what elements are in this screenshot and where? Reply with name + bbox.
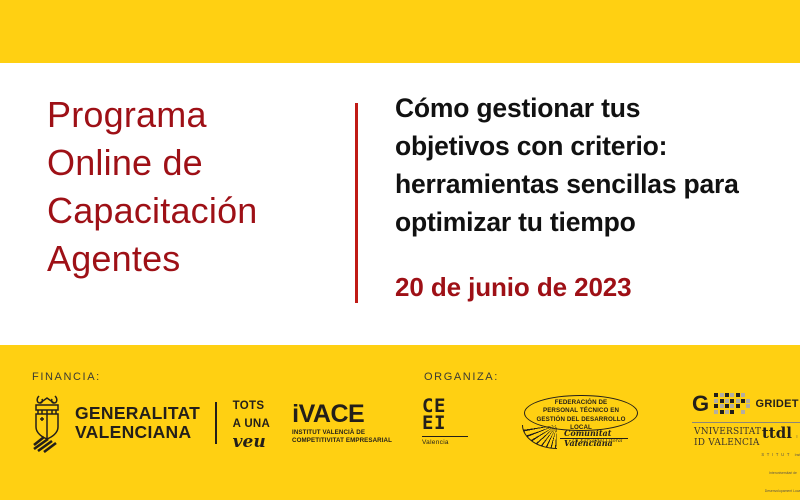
logo-gridet-universitat-valencia: G GRIDET VNIVERSITAT ID VALENCIA ttdl (692, 393, 800, 451)
generalitat-separator (215, 402, 217, 444)
tots-a-una-veu-block: TOTS A UNA veu (233, 396, 271, 451)
footer-yellow-band: FINANCIA: (0, 345, 800, 500)
logo-federacion-desarrollo-local: FEDERACIÓN DE PERSONAL TÉCNICO EN GESTIÓ… (520, 395, 640, 449)
gridet-mark: G GRIDET (692, 393, 799, 415)
ttdl-institute-logo: ttdl I N S T I T U T Institut Interunive… (760, 425, 800, 497)
event-poster: Programa Online de Capacitación Agentes … (0, 0, 800, 500)
gridet-rule (692, 422, 800, 423)
vertical-divider (355, 103, 358, 303)
ivace-subtitle: INSTITUT VALENCIÀ DE COMPETITIVITAT EMPR… (292, 429, 392, 446)
veu-script-text: veu (233, 433, 271, 451)
ttdl-wordmark: ttdl (762, 424, 792, 442)
gridet-g-letter: G (692, 393, 709, 415)
session-date: 20 de junio de 2023 (395, 271, 785, 303)
ceei-wordmark: CE EI (422, 398, 446, 432)
financia-logo-row: GENERALITAT VALENCIANA TOTS A UNA veu iV… (28, 393, 399, 453)
financia-label: FINANCIA: (32, 371, 101, 383)
organiza-label: ORGANIZA: (424, 371, 499, 383)
generalitat-crest-icon (28, 393, 66, 453)
organiza-group: ORGANIZA: CE EI Valencia FEDERACIÓN DE P… (400, 345, 800, 500)
session-block: Cómo gestionar tus objetivos con criteri… (395, 89, 785, 303)
ceei-city-label: Valencia (422, 439, 449, 446)
main-content: Programa Online de Capacitación Agentes … (0, 63, 800, 345)
gridet-wordmark: GRIDET (755, 398, 798, 410)
financia-group: FINANCIA: (0, 345, 400, 500)
program-title: Programa Online de Capacitación Agentes (47, 91, 337, 283)
logo-ivace: iVACE INSTITUT VALENCIÀ DE COMPETITIVITA… (292, 401, 398, 446)
logo-ceei-valencia: CE EI Valencia (422, 398, 468, 446)
generalitat-wordmark: GENERALITAT VALENCIANA (75, 404, 200, 442)
session-title: Cómo gestionar tus objetivos con criteri… (395, 89, 785, 241)
federacion-fan-icon (522, 425, 557, 449)
organiza-logo-row: CE EI Valencia FEDERACIÓN DE PERSONAL TÉ… (422, 393, 800, 451)
top-yellow-band (0, 0, 800, 63)
ivace-wordmark: iVACE (292, 401, 364, 427)
universitat-valencia-wordmark: VNIVERSITAT ID VALENCIA (694, 427, 761, 448)
federacion-region-subtext: La Xarxa del Litoral (572, 438, 622, 444)
tots-a-una-text: TOTS A UNA (233, 400, 271, 430)
gridet-pixel-grid-icon (714, 393, 750, 413)
logo-generalitat-valenciana: GENERALITAT VALENCIANA TOTS A UNA veu (28, 393, 270, 453)
ttdl-subtitle-secondary: Institut Interuniversitari de Desenvolup… (765, 453, 800, 493)
ceei-rule (422, 436, 468, 437)
